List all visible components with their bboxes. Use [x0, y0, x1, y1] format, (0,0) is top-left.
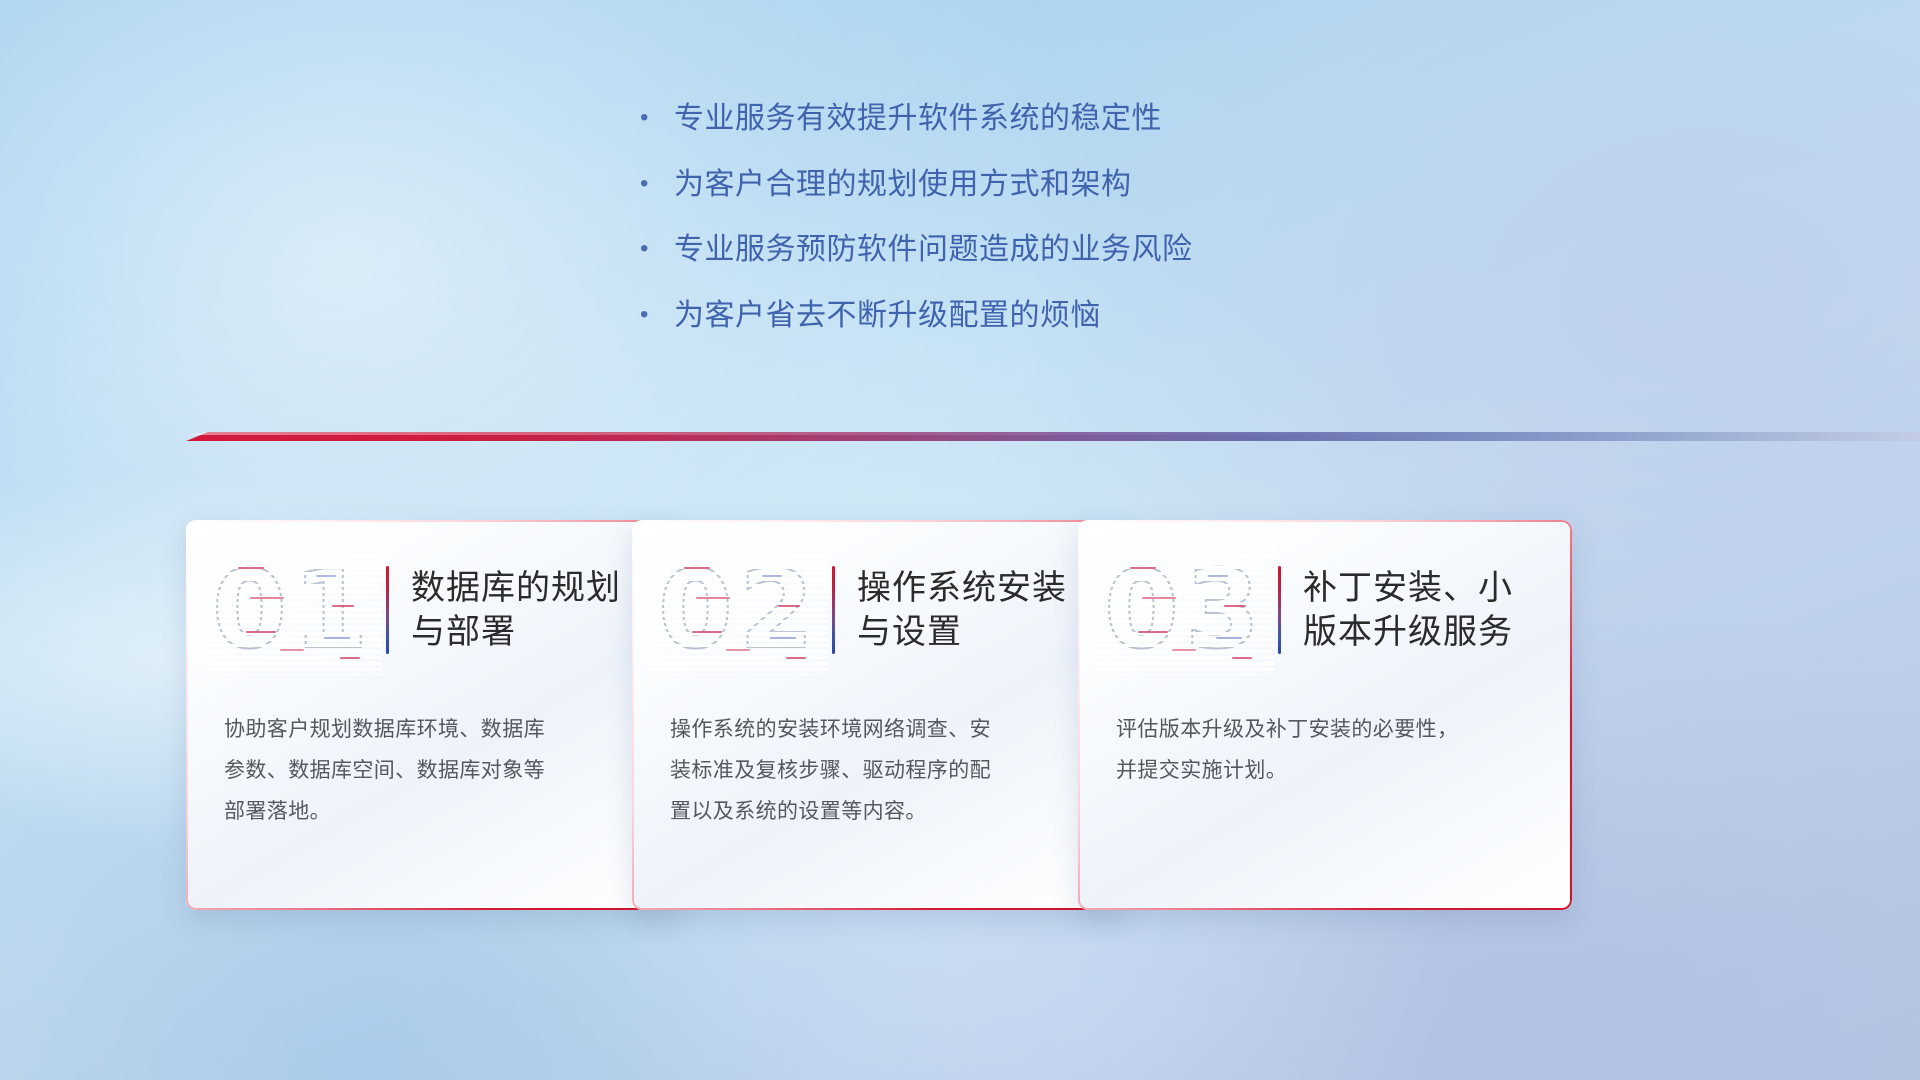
- divider-highlight: [186, 432, 1920, 435]
- bullet-text: 为客户省去不断升级配置的烦恼: [674, 297, 1101, 335]
- card-number-graphic: 02: [650, 545, 828, 675]
- service-card[interactable]: 03 补丁安装、小 版本升级服务 评估版本升级及补丁安装的必要性， 并提交实施计…: [1078, 520, 1572, 910]
- card-body-line-1: 操作系统的安装环境网络调查、安: [670, 710, 1098, 751]
- list-item: • 专业服务预防软件问题造成的业务风险: [640, 231, 1400, 269]
- card-title-divider-icon: [1278, 566, 1281, 654]
- list-item: • 为客户合理的规划使用方式和架构: [640, 166, 1400, 204]
- card-title-line-1: 补丁安装、小: [1303, 566, 1513, 610]
- card-body-line-1: 协助客户规划数据库环境、数据库: [224, 710, 652, 751]
- card-title: 数据库的规划 与部署: [411, 566, 621, 654]
- list-item: • 为客户省去不断升级配置的烦恼: [640, 297, 1400, 335]
- card-title-divider-icon: [832, 566, 835, 654]
- card-title: 补丁安装、小 版本升级服务: [1303, 566, 1513, 654]
- card-number-text: 01: [204, 545, 382, 675]
- card-title-line-2: 与设置: [857, 610, 1067, 654]
- card-header: 03 补丁安装、小 版本升级服务: [1078, 520, 1572, 700]
- card-number-graphic: 01: [204, 545, 382, 675]
- card-title-line-2: 与部署: [411, 610, 621, 654]
- card-body: 操作系统的安装环境网络调查、安 装标准及复核步骤、驱动程序的配 置以及系统的设置…: [670, 710, 1098, 833]
- card-body-line-2: 参数、数据库空间、数据库对象等: [224, 751, 652, 792]
- card-number-text: 03: [1096, 545, 1274, 675]
- service-card[interactable]: 02 操作系统安装 与设置 操作系统的安装环境网络调查、安 装标准及复核步骤、驱…: [632, 520, 1126, 910]
- card-body-line-2: 装标准及复核步骤、驱动程序的配: [670, 751, 1098, 792]
- section-divider: [0, 428, 1920, 448]
- card-title-divider-icon: [386, 566, 389, 654]
- card-title-line-1: 操作系统安装: [857, 566, 1067, 610]
- card-body: 协助客户规划数据库环境、数据库 参数、数据库空间、数据库对象等 部署落地。: [224, 710, 652, 833]
- card-title: 操作系统安装 与设置: [857, 566, 1067, 654]
- card-title-line-1: 数据库的规划: [411, 566, 621, 610]
- bullet-dot-icon: •: [640, 237, 674, 261]
- bullet-text: 为客户合理的规划使用方式和架构: [674, 166, 1132, 204]
- bullet-dot-icon: •: [640, 303, 674, 327]
- service-card[interactable]: 01 数据库的规划 与部署 协助客户规划数据库环境、数据库 参数、数据库空间、数…: [186, 520, 680, 910]
- card-body-line-2: 并提交实施计划。: [1116, 751, 1544, 792]
- card-number-text: 02: [650, 545, 828, 675]
- card-body-line-3: 置以及系统的设置等内容。: [670, 792, 1098, 833]
- bullet-text: 专业服务预防软件问题造成的业务风险: [674, 231, 1193, 269]
- card-body-line-1: 评估版本升级及补丁安装的必要性，: [1116, 710, 1544, 751]
- benefits-bullet-list: • 专业服务有效提升软件系统的稳定性 • 为客户合理的规划使用方式和架构 • 专…: [640, 100, 1400, 362]
- bullet-dot-icon: •: [640, 106, 674, 130]
- service-card-group: 01 数据库的规划 与部署 协助客户规划数据库环境、数据库 参数、数据库空间、数…: [0, 520, 1920, 930]
- card-body-line-3: 部署落地。: [224, 792, 652, 833]
- card-header: 02 操作系统安装 与设置: [632, 520, 1126, 700]
- card-body: 评估版本升级及补丁安装的必要性， 并提交实施计划。: [1116, 710, 1544, 792]
- list-item: • 专业服务有效提升软件系统的稳定性: [640, 100, 1400, 138]
- bullet-text: 专业服务有效提升软件系统的稳定性: [674, 100, 1162, 138]
- card-title-line-2: 版本升级服务: [1303, 610, 1513, 654]
- bullet-dot-icon: •: [640, 172, 674, 196]
- card-header: 01 数据库的规划 与部署: [186, 520, 680, 700]
- card-number-graphic: 03: [1096, 545, 1274, 675]
